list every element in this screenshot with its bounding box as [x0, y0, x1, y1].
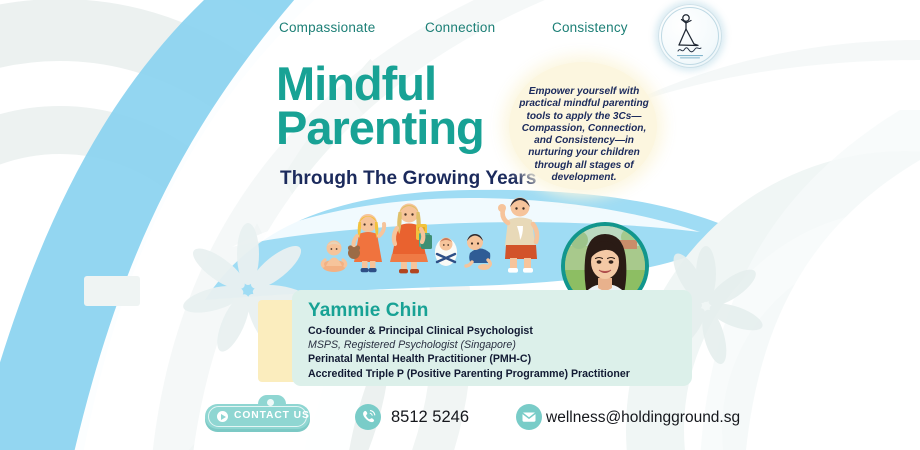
speaker-name: Yammie Chin — [308, 300, 428, 322]
credential-line: Accredited Triple P (Positive Parenting … — [308, 367, 688, 381]
nav-word-consistency: Consistency — [552, 20, 628, 35]
figure-waving-older-boy — [498, 198, 537, 273]
three-cs-nav: Compassionate Connection Consistency — [0, 20, 920, 44]
email-address: wellness@holdingground.sg — [546, 409, 740, 427]
play-arrow-icon — [217, 411, 228, 422]
nav-word-compassionate: Compassionate — [279, 20, 375, 35]
email-icon[interactable] — [516, 404, 542, 430]
phone-number: 8512 5246 — [391, 408, 469, 427]
speech-bubble-text: Empower yourself with practical mindful … — [515, 86, 653, 184]
figure-sitting-baby — [322, 241, 346, 273]
page-subtitle: Through The Growing Years — [280, 168, 537, 190]
poster-canvas: Compassionate Connection Consistency — [0, 0, 920, 450]
contact-us-label: CONTACT US — [234, 410, 310, 421]
holding-ground-logo — [658, 4, 722, 68]
figure-swaddled-newborn — [435, 238, 457, 267]
speaker-credentials: Co-founder & Principal Clinical Psycholo… — [308, 324, 688, 381]
credential-line: Perinatal Mental Health Practitioner (PM… — [308, 352, 688, 366]
button-bubble-dot — [267, 399, 274, 406]
figure-crawling-boy — [466, 234, 490, 270]
figure-schoolgirl — [390, 204, 432, 274]
credential-line: MSPS, Registered Psychologist (Singapore… — [308, 338, 688, 352]
figure-toddler-girl — [348, 214, 384, 272]
contact-us-button[interactable]: CONTACT US — [205, 404, 310, 429]
credential-line: Co-founder & Principal Clinical Psycholo… — [308, 324, 688, 338]
phone-icon[interactable] — [355, 404, 381, 430]
nav-word-connection: Connection — [425, 20, 495, 35]
children-growth-stages-illustration — [312, 196, 540, 276]
